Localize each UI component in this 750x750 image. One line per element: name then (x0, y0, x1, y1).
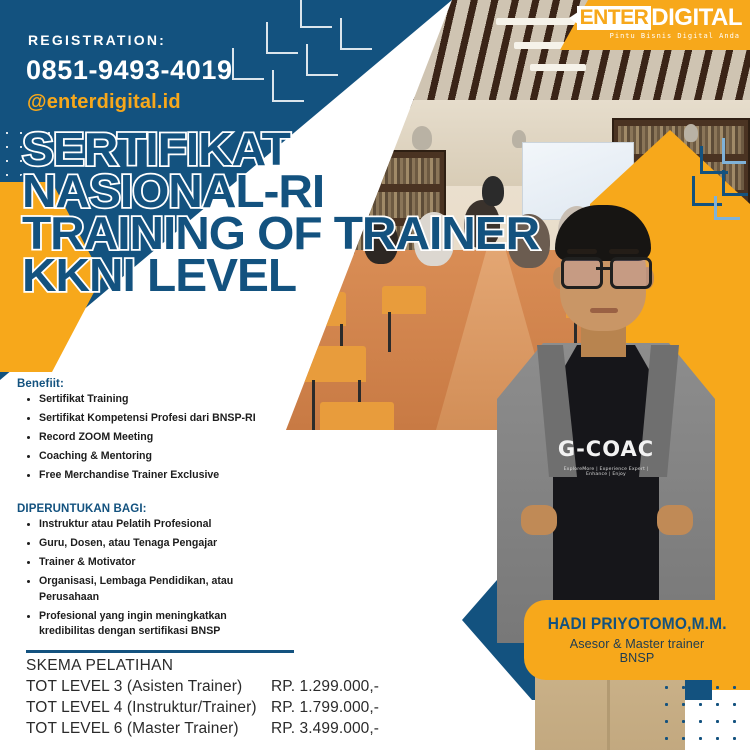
speaker-name-badge: HADI PRIYOTOMO,M.M. Asesor & Master trai… (524, 600, 750, 680)
list-item: Organisasi, Lembaga Pendidikan, atau Per… (39, 574, 285, 605)
glasses-icon (561, 257, 603, 289)
list-item: Free Merchandise Trainer Exclusive (39, 468, 277, 484)
page-title: SERTIFIKAT NASIONAL-RI TRAINING OF TRAIN… (22, 128, 542, 296)
bracket-icon (714, 196, 740, 220)
portrait-brow-left (567, 249, 597, 254)
list-item: Sertifikat Kompetensi Profesi dari BNSP-… (39, 411, 277, 427)
bracket-icon (306, 44, 338, 76)
list-item: Instruktur atau Pelatih Profesional (39, 517, 285, 533)
headline-line-2: NASIONAL-RI (22, 170, 563, 212)
section-divider (26, 650, 294, 653)
bracket-icon (722, 170, 748, 196)
target-title: DIPERUNTUKAN BAGI: (17, 503, 285, 515)
pricing-price: RP. 1.799.000,- (271, 697, 431, 718)
pricing-price: RP. 3.499.000,- (271, 718, 431, 739)
glasses-icon (610, 257, 652, 289)
photo-chair (294, 292, 346, 326)
target-audience-section: DIPERUNTUKAN BAGI: Instruktur atau Pelat… (17, 503, 285, 643)
portrait-hand-left (521, 505, 557, 535)
list-item: Trainer & Motivator (39, 555, 285, 571)
pricing-name: TOT LEVEL 6 (Master Trainer) (26, 718, 271, 739)
pricing-name: TOT LEVEL 3 (Asisten Trainer) (26, 676, 271, 697)
pricing-price: RP. 1.299.000,- (271, 676, 431, 697)
benefit-section: Benefiit: Sertifikat Training Sertifikat… (17, 378, 277, 487)
registration-phone[interactable]: 0851-9493-4019 (26, 55, 233, 86)
photo-chair (304, 346, 366, 382)
photo-chair (320, 402, 394, 430)
list-item: Guru, Dosen, atau Tenaga Pengajar (39, 536, 285, 552)
bracket-icon (722, 138, 746, 164)
speaker-name: HADI PRIYOTOMO,M.M. (547, 615, 726, 634)
bracket-icon (266, 22, 298, 54)
photo-ceiling-lamp (530, 64, 586, 71)
registration-label: REGISTRATION: (28, 32, 166, 48)
table-row: TOT LEVEL 3 (Asisten Trainer) RP. 1.299.… (26, 676, 446, 697)
poster-root: G-COAC ExploreMore | Experience Expert |… (0, 0, 750, 750)
table-row: TOT LEVEL 6 (Master Trainer) RP. 3.499.0… (26, 718, 446, 739)
portrait-hand-right (657, 505, 693, 535)
list-item: Sertifikat Training (39, 392, 277, 408)
shirt-logo-text: G-COAC (553, 437, 659, 461)
brand-logo: ENTER DIGITAL (569, 6, 742, 30)
shirt-logo-subtext: ExploreMore | Experience Expert | Enhanc… (553, 467, 659, 477)
list-item: Coaching & Mentoring (39, 449, 277, 465)
bracket-icon (340, 18, 372, 50)
glasses-bridge-icon (596, 267, 610, 270)
photo-chair-leg (302, 324, 305, 372)
bracket-icon (300, 0, 332, 28)
headline-line-4: KKNI LEVEL (22, 254, 563, 296)
portrait-brow-right (609, 249, 639, 254)
registration-handle[interactable]: @enterdigital.id (27, 91, 181, 114)
pricing-heading: SKEMA PELATIHAN (26, 657, 446, 675)
speaker-role-line1: Asesor & Master trainer (570, 637, 705, 651)
table-row: TOT LEVEL 4 (Instruktur/Trainer) RP. 1.7… (26, 697, 446, 718)
target-list: Instruktur atau Pelatih Profesional Guru… (17, 517, 285, 640)
brand-tagline: Pintu Bisnis Digital Anda (610, 32, 740, 40)
pricing-table: SKEMA PELATIHAN TOT LEVEL 3 (Asisten Tra… (26, 657, 446, 739)
benefit-list: Sertifikat Training Sertifikat Kompetens… (17, 392, 277, 484)
portrait-mouth (590, 308, 618, 313)
pricing-name: TOT LEVEL 4 (Instruktur/Trainer) (26, 697, 271, 718)
speaker-role: Asesor & Master trainer BNSP (570, 637, 705, 666)
list-item: Record ZOOM Meeting (39, 430, 277, 446)
speaker-role-line2: BNSP (620, 651, 655, 665)
photo-vase (684, 124, 698, 142)
bracket-icon (272, 70, 304, 102)
photo-chair-leg (388, 312, 391, 352)
photo-chair-leg (312, 380, 315, 430)
headline-line-3: TRAINING OF TRAINER (22, 212, 563, 254)
logo-digital-text: DIGITAL (651, 6, 742, 30)
benefit-title: Benefiit: (17, 378, 277, 390)
list-item: Profesional yang ingin meningkatkan kred… (39, 609, 285, 640)
bracket-icon (232, 48, 264, 80)
headline-line-1: SERTIFIKAT (22, 128, 563, 170)
logo-enter-text: ENTER (577, 6, 652, 30)
